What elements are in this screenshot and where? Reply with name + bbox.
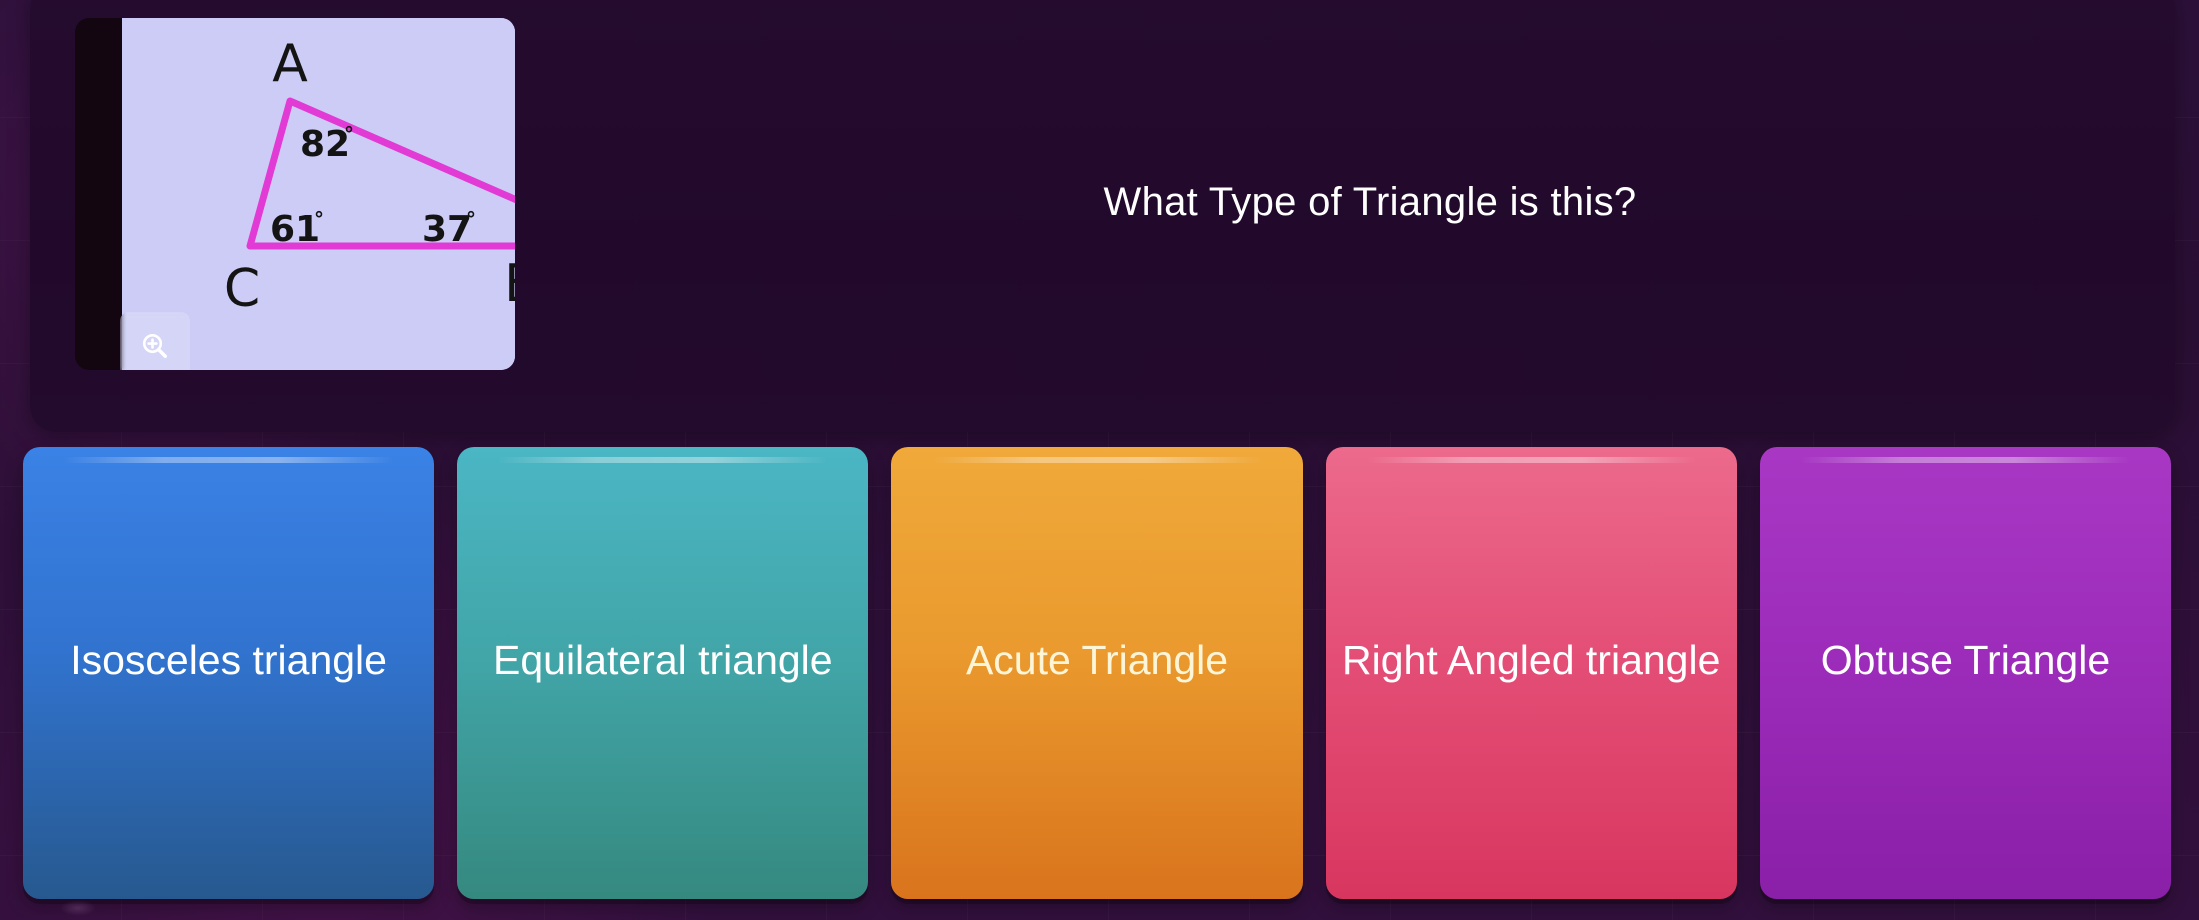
answer-equilateral[interactable]: Equilateral triangle	[457, 447, 868, 899]
svg-text:61: 61	[270, 209, 320, 250]
answer-label: Isosceles triangle	[70, 636, 387, 684]
svg-text:°: °	[466, 207, 476, 231]
svg-text:°: °	[344, 122, 354, 146]
question-card: A C B 82 ° 61 ° 37 °	[30, 0, 2175, 432]
button-sheen	[498, 457, 827, 463]
answer-label: Obtuse Triangle	[1821, 636, 2110, 684]
button-sheen	[64, 457, 393, 463]
answer-right-angled[interactable]: Right Angled triangle	[1326, 447, 1737, 899]
svg-text:B: B	[504, 254, 515, 314]
magnifier-plus-icon[interactable]	[120, 312, 190, 370]
answer-acute[interactable]: Acute Triangle	[891, 447, 1302, 899]
answer-obtuse[interactable]: Obtuse Triangle	[1760, 447, 2171, 899]
question-prompt: What Type of Triangle is this?	[590, 0, 2150, 432]
svg-text:37: 37	[422, 209, 472, 250]
answer-label: Equilateral triangle	[493, 636, 833, 684]
button-sheen	[1367, 457, 1696, 463]
quiz-screen: A C B 82 ° 61 ° 37 °	[0, 0, 2199, 920]
answer-label: Acute Triangle	[966, 636, 1228, 684]
svg-text:C: C	[224, 259, 260, 319]
bottom-glow-artifact	[60, 900, 96, 916]
answer-label: Right Angled triangle	[1342, 636, 1720, 684]
svg-text:A: A	[272, 34, 308, 94]
button-sheen	[933, 457, 1262, 463]
answer-options: Isosceles triangle Equilateral triangle …	[23, 447, 2171, 899]
question-media: A C B 82 ° 61 ° 37 °	[75, 18, 515, 370]
svg-text:82: 82	[300, 124, 350, 165]
button-sheen	[1801, 457, 2130, 463]
svg-text:°: °	[314, 207, 324, 231]
answer-isosceles[interactable]: Isosceles triangle	[23, 447, 434, 899]
